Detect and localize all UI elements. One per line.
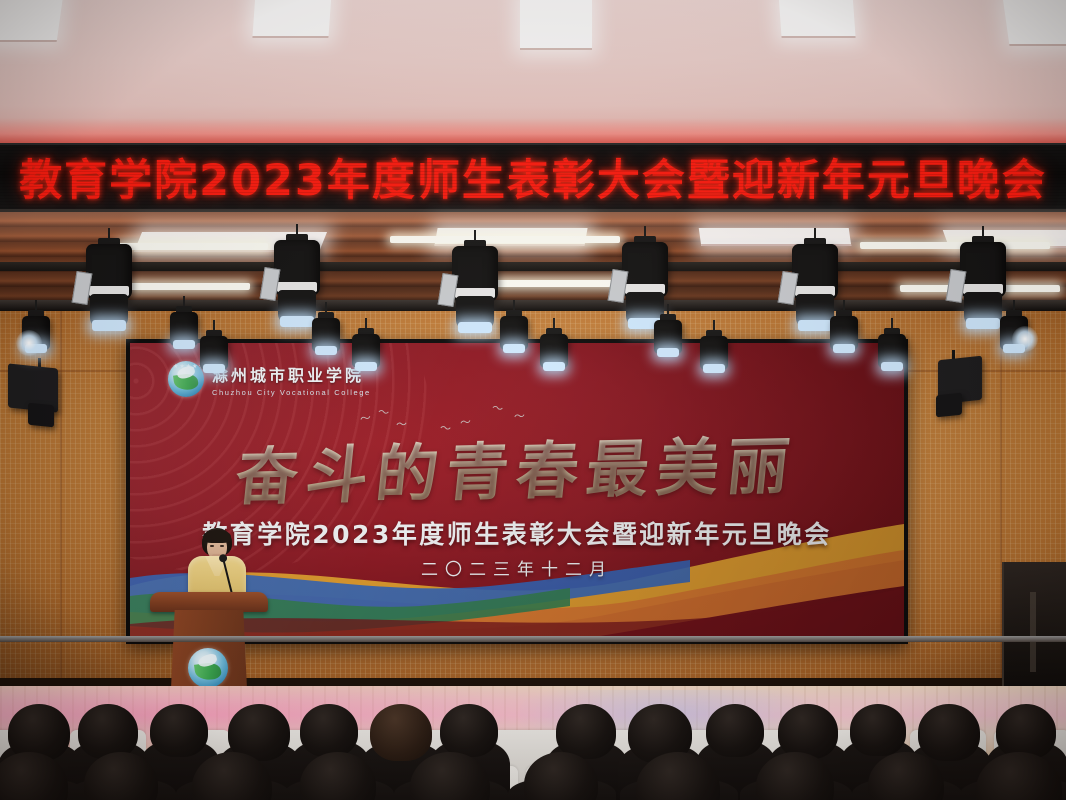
ceiling-light-panel xyxy=(0,0,63,42)
audience-head xyxy=(850,704,906,756)
wall-speaker-left-sub xyxy=(28,403,54,428)
stage-light-par-can xyxy=(830,300,858,358)
audience-head xyxy=(370,704,432,761)
audience-head xyxy=(996,704,1056,759)
stage-light-par-can xyxy=(654,304,682,362)
lamp-lens xyxy=(703,364,725,373)
stage-light-moving-head xyxy=(452,230,498,340)
stage-light-beam xyxy=(16,330,42,356)
wall-speaker-right-sub xyxy=(936,393,962,418)
stage-light-par-can xyxy=(878,318,906,376)
lighting-truss xyxy=(0,300,1066,311)
ceiling-glow xyxy=(0,118,1066,144)
lamp-lens xyxy=(833,344,855,353)
audience-head xyxy=(440,704,498,757)
lamp-lens xyxy=(458,322,492,333)
lamp-lens xyxy=(203,364,225,373)
podium-top xyxy=(150,592,268,612)
lamp-lens xyxy=(543,362,565,371)
stage-light-par-can xyxy=(200,320,228,378)
wall-shading xyxy=(0,212,1066,308)
stage-light-par-can xyxy=(170,296,198,354)
fluorescent-tube xyxy=(390,236,620,243)
stage-light-par-can xyxy=(700,320,728,378)
audience-head xyxy=(706,704,764,757)
ceiling-light-panel xyxy=(1002,0,1066,46)
led-banner: 教育学院2023年度师生表彰大会暨迎新年元旦晚会 xyxy=(0,143,1066,212)
stage-light-par-can xyxy=(500,300,528,358)
audience-head xyxy=(300,704,358,757)
lamp-lens xyxy=(315,346,337,355)
lamp-lens xyxy=(92,320,126,331)
stage-light-par-can xyxy=(352,318,380,376)
audience-head xyxy=(918,704,980,761)
audience-head xyxy=(150,704,208,757)
ceiling-light-panel xyxy=(252,0,331,38)
led-banner-text: 教育学院2023年度师生表彰大会暨迎新年元旦晚会 xyxy=(19,146,1047,208)
ceiling xyxy=(0,0,1066,146)
lamp-lens xyxy=(173,340,195,349)
lamp-lens xyxy=(966,318,1000,329)
stage-light-beam xyxy=(1012,326,1038,352)
fluorescent-tube xyxy=(130,283,250,290)
stage-light-par-can xyxy=(312,302,340,360)
fluorescent-tube xyxy=(118,243,268,250)
stage-light-moving-head xyxy=(86,228,132,338)
audience xyxy=(0,690,1066,800)
lamp-lens xyxy=(503,344,525,353)
lamp-lens xyxy=(657,348,679,357)
audience-head xyxy=(556,704,616,759)
audience-head xyxy=(78,704,138,759)
lamp-lens xyxy=(881,362,903,371)
fluorescent-tube xyxy=(860,242,1050,249)
lighting-truss xyxy=(0,262,1066,271)
auditorium-photo: 教育学院2023年度师生表彰大会暨迎新年元旦晚会 xyxy=(0,0,1066,800)
ceiling-light-panel xyxy=(520,0,592,50)
stage-light-par-can xyxy=(540,318,568,376)
lamp-lens xyxy=(798,320,832,331)
stage-base-panel xyxy=(0,640,1066,688)
lamp-lens xyxy=(280,316,314,327)
lamp-lens xyxy=(355,362,377,371)
ceiling-light-panel xyxy=(778,0,855,38)
wood-slat-wall xyxy=(0,212,1066,308)
audience-head xyxy=(778,704,838,759)
